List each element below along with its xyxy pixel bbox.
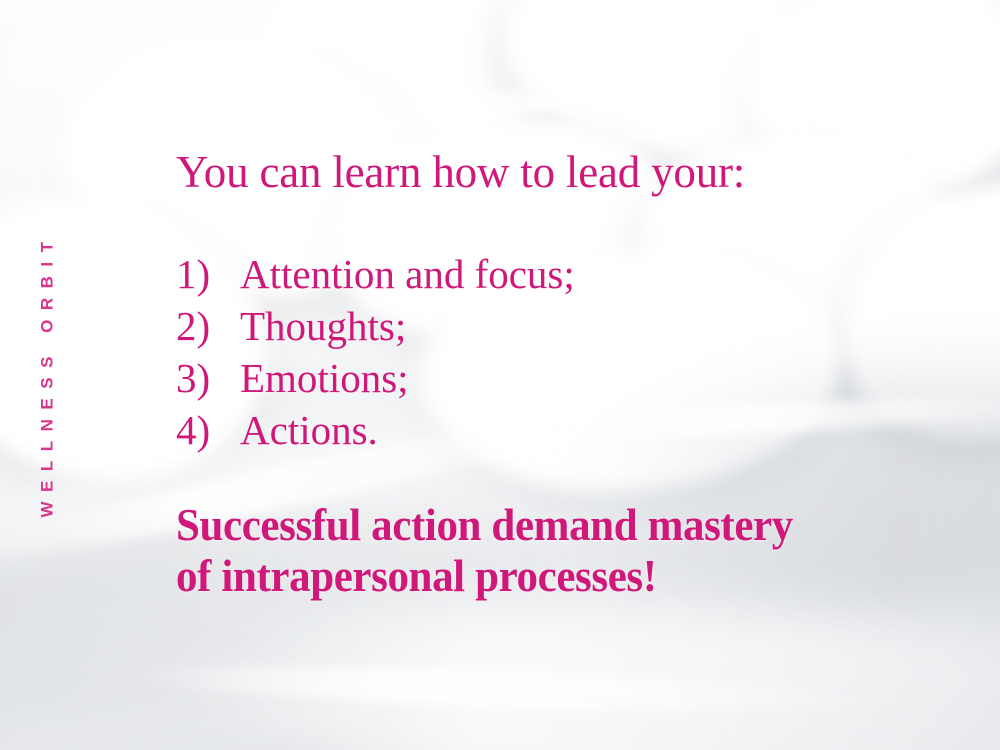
list-item: 4) Actions. xyxy=(176,404,575,456)
list-item-marker: 3) xyxy=(176,352,240,404)
list-item-marker: 4) xyxy=(176,404,240,456)
closing-line-2: of intrapersonal processes! xyxy=(176,551,793,602)
page-title: You can learn how to lead your: xyxy=(176,146,745,198)
list-item: 1) Attention and focus; xyxy=(176,248,575,300)
brand-rail: WELLNESS ORBIT xyxy=(0,0,96,750)
list-item-label: Actions. xyxy=(240,404,378,456)
list-item-label: Attention and focus; xyxy=(240,248,575,300)
presentation-slide: WELLNESS ORBIT You can learn how to lead… xyxy=(0,0,1000,750)
list-item-marker: 1) xyxy=(176,248,240,300)
list-item: 2) Thoughts; xyxy=(176,300,575,352)
brand-wordmark: WELLNESS ORBIT xyxy=(38,232,58,517)
list-item-marker: 2) xyxy=(176,300,240,352)
list-item-label: Emotions; xyxy=(240,352,409,404)
slide-content: You can learn how to lead your: 1) Atten… xyxy=(176,0,966,750)
list-item: 3) Emotions; xyxy=(176,352,575,404)
closing-line-1: Successful action demand mastery xyxy=(176,500,793,551)
closing-statement: Successful action demand mastery of intr… xyxy=(176,500,822,602)
numbered-list: 1) Attention and focus; 2) Thoughts; 3) … xyxy=(176,248,575,456)
list-item-label: Thoughts; xyxy=(240,300,406,352)
